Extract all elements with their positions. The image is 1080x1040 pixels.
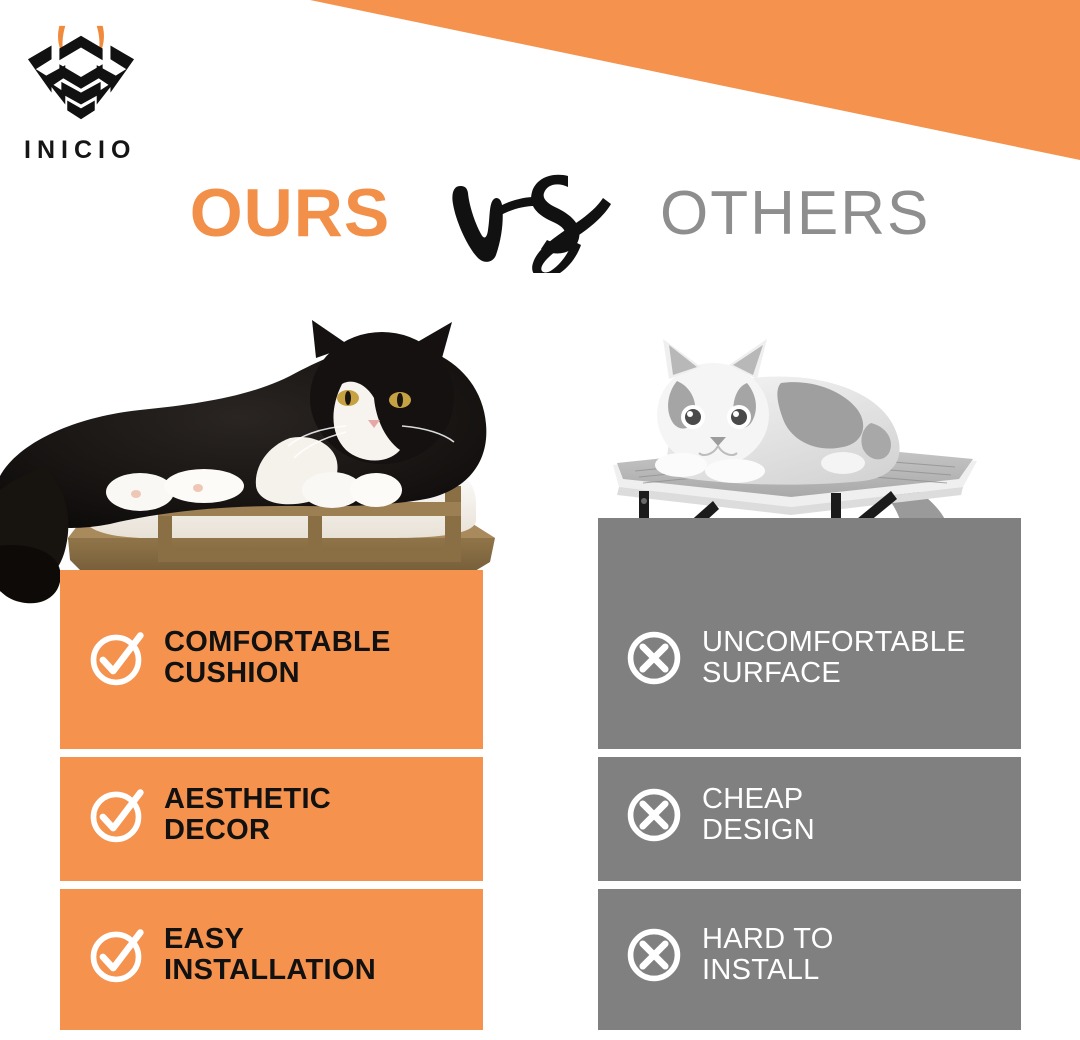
panel-separator	[60, 881, 483, 889]
x-circle-icon	[624, 785, 684, 845]
feature-label: AESTHETIC DECOR	[164, 784, 483, 847]
feature-label: EASY INSTALLATION	[164, 924, 483, 987]
x-circle-icon	[624, 628, 684, 688]
ours-feature-panel: COMFORTABLE CUSHION AESTHETIC DECOR EASY…	[60, 570, 483, 1030]
feature-row-uncomfortable-surface: UNCOMFORTABLE SURFACE	[598, 613, 1021, 703]
check-circle-icon	[86, 785, 146, 845]
feature-row-easy-installation: EASY INSTALLATION	[60, 910, 483, 1000]
bee-chevron-logo-icon	[22, 20, 140, 130]
feature-row-comfortable-cushion: COMFORTABLE CUSHION	[60, 613, 483, 703]
feature-row-hard-to-install: HARD TO INSTALL	[598, 910, 1021, 1000]
others-feature-panel: UNCOMFORTABLE SURFACE CHEAP DESIGN HARD …	[598, 518, 1021, 1030]
feature-label: UNCOMFORTABLE SURFACE	[702, 627, 1021, 690]
panel-separator	[598, 749, 1021, 757]
panel-separator	[598, 881, 1021, 889]
ours-title: OURS	[160, 174, 420, 252]
feature-row-aesthetic-decor: AESTHETIC DECOR	[60, 770, 483, 860]
x-circle-icon	[624, 925, 684, 985]
brand-name: INICIO	[24, 136, 168, 165]
feature-label: HARD TO INSTALL	[702, 924, 1021, 987]
ours-product-photo	[0, 280, 560, 610]
feature-label: COMFORTABLE CUSHION	[164, 627, 483, 690]
headline-row: OURS OTHERS	[0, 168, 1080, 278]
check-circle-icon	[86, 628, 146, 688]
check-circle-icon	[86, 925, 146, 985]
panel-separator	[60, 749, 483, 757]
others-title: OTHERS	[660, 178, 980, 249]
infographic-canvas: INICIO OURS OTHERS	[0, 0, 1080, 1040]
feature-label: CHEAP DESIGN	[702, 784, 1021, 847]
brand-logo: INICIO	[18, 20, 168, 165]
vs-script-icon	[448, 168, 618, 273]
feature-row-cheap-design: CHEAP DESIGN	[598, 770, 1021, 860]
